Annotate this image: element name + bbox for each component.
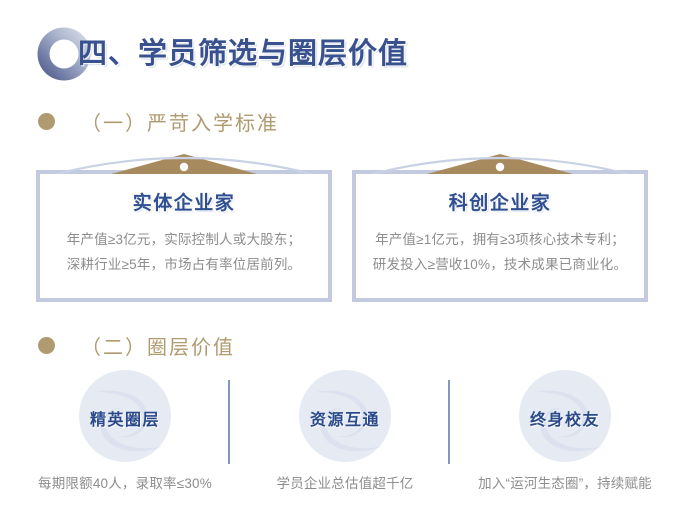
- slide-root: 四、学员筛选与圈层价值 （一）严苛入学标准 实体企业家 年产值≥3亿元，实际控制…: [0, 0, 700, 512]
- value-description: 学员企业总估值超千亿: [240, 472, 450, 492]
- value-description: 每期限额40人，录取率≤30%: [20, 472, 230, 492]
- slide-header: 四、学员筛选与圈层价值: [0, 0, 700, 96]
- page-title: 四、学员筛选与圈层价值: [78, 30, 408, 72]
- value-column-elite-circle[interactable]: 精英圈层 每期限额40人，录取率≤30%: [20, 366, 230, 512]
- card-title: 实体企业家: [133, 188, 236, 215]
- section-heading-admission-criteria: （一）严苛入学标准: [38, 107, 279, 136]
- card-content: 实体企业家 年产值≥3亿元，实际控制人或大股东； 深耕行业≥5年，市场占有率位居…: [40, 174, 328, 298]
- section-heading-circle-value: （二）圈层价值: [38, 331, 235, 360]
- criteria-card-row: 实体企业家 年产值≥3亿元，实际控制人或大股东； 深耕行业≥5年，市场占有率位居…: [0, 148, 700, 308]
- section-2-label: （二）圈层价值: [81, 331, 235, 360]
- card-title: 科创企业家: [449, 188, 552, 215]
- value-description: 加入“运河生态圈”，持续赋能: [460, 472, 670, 492]
- card-content: 科创企业家 年产值≥1亿元，拥有≥3项核心技术专利； 研发投入≥营收10%，技术…: [356, 174, 644, 298]
- value-column-lifelong-alumni[interactable]: 终身校友 加入“运河生态圈”，持续赋能: [460, 366, 670, 512]
- column-divider: [448, 380, 450, 464]
- criteria-card-entity-entrepreneur[interactable]: 实体企业家 年产值≥3亿元，实际控制人或大股东； 深耕行业≥5年，市场占有率位居…: [36, 148, 332, 306]
- value-column-row: 精英圈层 每期限额40人，录取率≤30% 资源互通 学员企业总估值超千亿: [0, 366, 700, 512]
- card-body: 年产值≥1亿元，拥有≥3项核心技术专利； 研发投入≥营收10%，技术成果已商业化…: [356, 227, 644, 277]
- card-body-line: 年产值≥1亿元，拥有≥3项核心技术专利；: [368, 227, 632, 252]
- criteria-card-tech-entrepreneur[interactable]: 科创企业家 年产值≥1亿元，拥有≥3项核心技术专利； 研发投入≥营收10%，技术…: [352, 148, 648, 306]
- card-body-line: 深耕行业≥5年，市场占有率位居前列。: [52, 252, 316, 277]
- value-title: 终身校友: [460, 406, 670, 430]
- value-title: 精英圈层: [20, 406, 230, 430]
- section-1-label: （一）严苛入学标准: [81, 107, 279, 136]
- column-divider: [228, 380, 230, 464]
- card-body-line: 研发投入≥营收10%，技术成果已商业化。: [368, 252, 632, 277]
- card-body-line: 年产值≥3亿元，实际控制人或大股东；: [52, 227, 316, 252]
- value-title: 资源互通: [240, 406, 450, 430]
- card-body: 年产值≥3亿元，实际控制人或大股东； 深耕行业≥5年，市场占有率位居前列。: [40, 227, 328, 277]
- bullet-dot-icon: [38, 337, 55, 354]
- bullet-dot-icon: [38, 113, 55, 130]
- value-column-resource-sharing[interactable]: 资源互通 学员企业总估值超千亿: [240, 366, 450, 512]
